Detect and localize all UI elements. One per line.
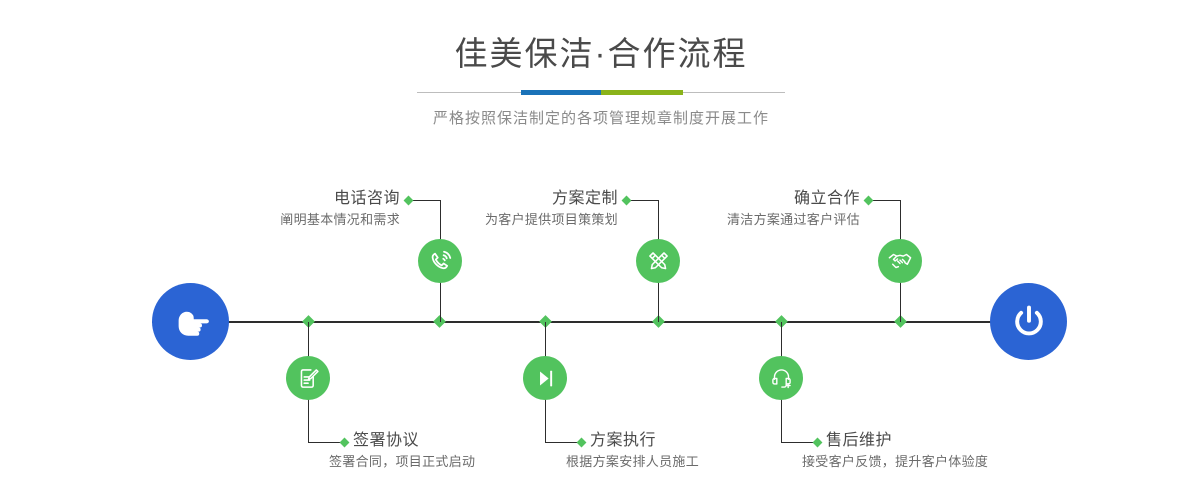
step-title-6: 售后维护 xyxy=(826,430,1106,452)
step-title-4: 方案执行 xyxy=(590,430,850,452)
handshake-icon xyxy=(887,248,913,274)
step-title-2: 签署协议 xyxy=(353,430,613,452)
step-label-3: 方案定制 为客户提供项目策策划 xyxy=(368,188,618,230)
step-desc-1: 阐明基本情况和需求 xyxy=(150,210,400,230)
step-node-4[interactable] xyxy=(523,356,567,400)
step-node-6[interactable] xyxy=(759,356,803,400)
timeline-axis xyxy=(152,321,1052,323)
power-icon xyxy=(1008,301,1050,343)
label-marker-step-2 xyxy=(340,438,350,448)
step-label-1: 电话咨询 阐明基本情况和需求 xyxy=(150,188,400,230)
step-title-1: 电话咨询 xyxy=(150,188,400,210)
pencil-ruler-icon xyxy=(646,249,671,274)
play-execute-icon xyxy=(533,366,558,391)
elbow-h-step-5 xyxy=(872,200,901,201)
step-label-6: 售后维护 接受客户反馈，提升客户体验度 xyxy=(826,430,1106,472)
step-desc-6: 接受客户反馈，提升客户体验度 xyxy=(802,452,1106,472)
step-desc-5: 清洁方案通过客户评估 xyxy=(608,210,860,230)
phone-call-icon xyxy=(428,249,453,274)
step-title-5: 确立合作 xyxy=(608,188,860,210)
thumbs-up-hand-icon xyxy=(169,300,213,344)
step-title-3: 方案定制 xyxy=(368,188,618,210)
step-node-1[interactable] xyxy=(418,239,462,283)
document-edit-icon xyxy=(296,366,321,391)
flow-diagram-page: 佳美保洁·合作流程 严格按照保洁制定的各项管理规章制度开展工作 xyxy=(0,0,1202,502)
label-marker-step-5 xyxy=(864,196,874,206)
step-node-5[interactable] xyxy=(878,239,922,283)
step-node-2[interactable] xyxy=(286,356,330,400)
step-label-5: 确立合作 清洁方案通过客户评估 xyxy=(608,188,860,230)
step-node-3[interactable] xyxy=(636,239,680,283)
process-timeline: 电话咨询 阐明基本情况和需求 签署协议 签署合同，项目正式启动 xyxy=(0,0,1202,502)
timeline-start-node[interactable] xyxy=(152,283,229,360)
headset-support-icon xyxy=(769,366,794,391)
step-desc-3: 为客户提供项目策策划 xyxy=(368,210,618,230)
timeline-end-node[interactable] xyxy=(990,283,1067,360)
elbow-v-step-5 xyxy=(900,200,901,234)
